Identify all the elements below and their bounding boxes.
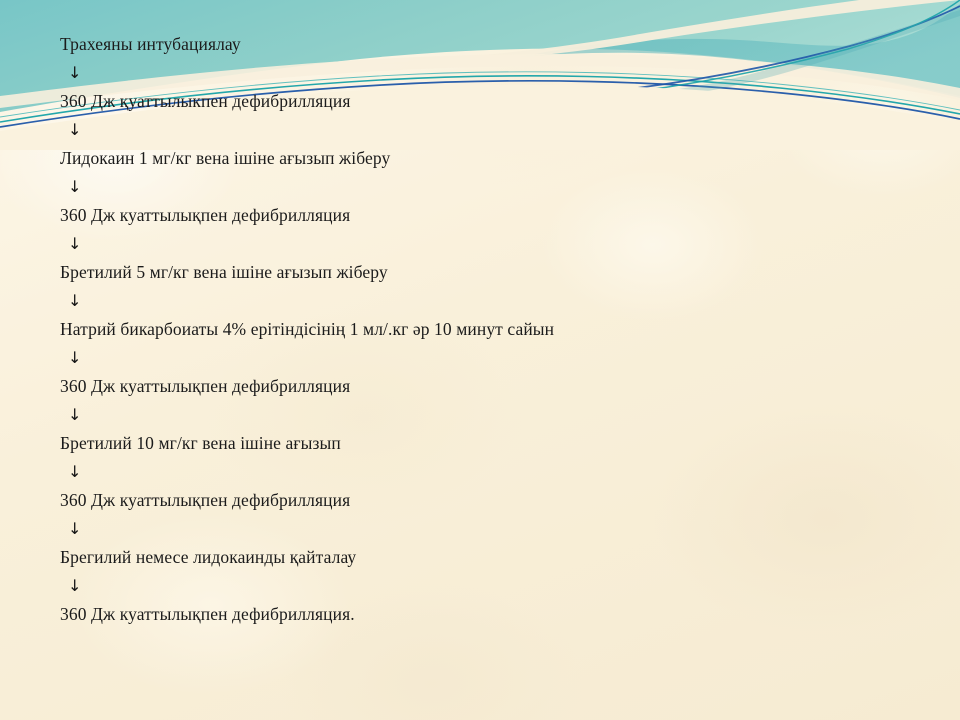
down-arrow-icon: ↓ (60, 515, 940, 543)
down-arrow-icon: ↓ (60, 116, 940, 144)
flow-step-11: 360 Дж куаттылықпен дефибрилляция. (60, 600, 940, 629)
down-arrow-icon: ↓ (60, 458, 940, 486)
down-arrow-icon: ↓ (60, 230, 940, 258)
resuscitation-flow-list: Трахеяны интубациялау ↓ 360 Дж қуаттылык… (60, 30, 940, 629)
flow-step-6: Натрий бикарбоиаты 4% ерітіндісінің 1 мл… (60, 315, 940, 344)
down-arrow-icon: ↓ (60, 287, 940, 315)
flow-step-5: Бретилий 5 мг/кг вена ішіне ағызып жібер… (60, 258, 940, 287)
down-arrow-icon: ↓ (60, 572, 940, 600)
flow-step-2: 360 Дж қуаттылыкпен дефибрилляция (60, 87, 940, 116)
down-arrow-icon: ↓ (60, 344, 940, 372)
flow-step-3: Лидокаин 1 мг/кг вена ішіне ағызып жібер… (60, 144, 940, 173)
flow-step-9: 360 Дж куаттылықпен дефибрилляция (60, 486, 940, 515)
flow-step-7: 360 Дж куаттылықпен дефибрилляция (60, 372, 940, 401)
down-arrow-icon: ↓ (60, 59, 940, 87)
flow-step-8: Бретилий 10 мг/кг вена ішіне ағызып (60, 429, 940, 458)
flow-step-1: Трахеяны интубациялау (60, 30, 940, 59)
presentation-slide: Трахеяны интубациялау ↓ 360 Дж қуаттылык… (0, 0, 960, 720)
flow-step-10: Брегилий немесе лидокаинды қайталау (60, 543, 940, 572)
flow-step-4: 360 Дж куаттылықпен дефибрилляция (60, 201, 940, 230)
down-arrow-icon: ↓ (60, 401, 940, 429)
down-arrow-icon: ↓ (60, 173, 940, 201)
